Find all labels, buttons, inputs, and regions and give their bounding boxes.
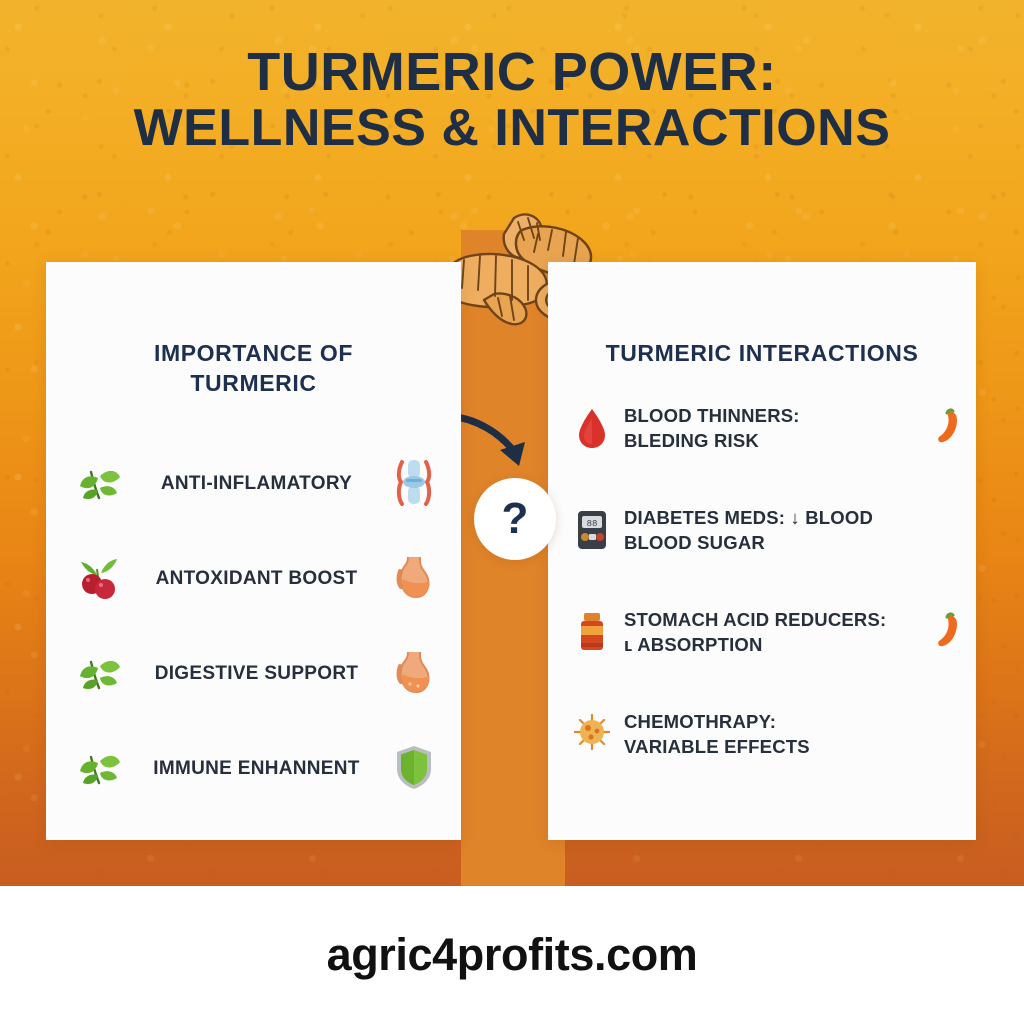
website-url[interactable]: agric4profits.com xyxy=(327,929,698,981)
herb-leaves-icon xyxy=(70,743,128,796)
question-mark-icon: ? xyxy=(502,497,529,541)
list-item[interactable]: 88 DIABETES MEDS: ↓ BLOOD BLOOD SUGAR xyxy=(548,500,976,602)
right-panel: TURMERIC INTERACTIONS BLOOD THINNERS: BL… xyxy=(548,262,976,840)
herb-leaves-icon xyxy=(70,458,128,511)
list-item-line-1: CHEMOTHRAPY: xyxy=(624,711,776,732)
svg-text:88: 88 xyxy=(587,519,598,529)
stomach-icon xyxy=(385,553,443,606)
list-item[interactable]: STOMACH ACID REDUCERS: ʟ ABSORPTION xyxy=(548,602,976,704)
trailing-icon-empty xyxy=(932,710,966,712)
list-item-line-1: STOMACH ACID REDUCERS: xyxy=(624,609,886,630)
infographic-canvas: TURMERIC POWER: WELLNESS & INTERACTIONS xyxy=(0,0,1024,1024)
benefits-list: ANTI-INFLAMATORY xyxy=(46,437,461,817)
left-panel-heading: IMPORTANCE OF TURMERIC xyxy=(92,338,415,399)
list-item-label: IMMUNE ENHANNENT xyxy=(128,758,385,780)
list-item[interactable]: ANTI-INFLAMATORY xyxy=(46,437,461,532)
title-line-2: WELLNESS & INTERACTIONS xyxy=(0,101,1024,156)
title-line-1: TURMERIC POWER: xyxy=(0,44,1024,101)
shield-icon xyxy=(385,743,443,796)
list-item[interactable]: IMMUNE ENHANNENT xyxy=(46,722,461,817)
list-item-text: DIABETES MEDS: ↓ BLOOD BLOOD SUGAR xyxy=(618,506,932,556)
question-mark-badge[interactable]: ? xyxy=(474,478,556,560)
trailing-icon-empty xyxy=(932,506,966,508)
list-item-text: STOMACH ACID REDUCERS: ʟ ABSORPTION xyxy=(618,608,932,658)
stomach-icon xyxy=(385,648,443,701)
berries-icon xyxy=(70,553,128,606)
list-item-text: CHEMOTHRAPY: VARIABLE EFFECTS xyxy=(618,710,932,760)
list-item[interactable]: CHEMOTHRAPY: VARIABLE EFFECTS xyxy=(548,704,976,806)
list-item-line-2: ʟ ABSORPTION xyxy=(624,634,763,655)
herb-leaves-icon xyxy=(70,648,128,701)
list-item-line-1: DIABETES MEDS: ↓ BLOOD xyxy=(624,507,873,528)
knee-joint-icon xyxy=(385,458,443,511)
list-item-label: ANTOXIDANT BOOST xyxy=(128,568,385,590)
right-panel-heading: TURMERIC INTERACTIONS xyxy=(568,338,956,368)
list-item[interactable]: DIGESTIVE SUPPORT xyxy=(46,627,461,722)
list-item-text: BLOOD THINNERS: BLEDING RISK xyxy=(618,404,932,454)
list-item-line-2: VARIABLE EFFECTS xyxy=(624,736,810,757)
list-item-label: DIGESTIVE SUPPORT xyxy=(128,663,385,685)
list-item-line-1: BLOOD THINNERS: xyxy=(624,405,800,426)
chili-pepper-icon xyxy=(932,608,966,655)
left-panel: IMPORTANCE OF TURMERIC ANTI-INFLAMATORY xyxy=(46,262,461,840)
interactions-list: BLOOD THINNERS: BLEDING RISK 88 xyxy=(548,398,976,806)
list-item-line-2: BLEDING RISK xyxy=(624,430,759,451)
glucose-meter-icon: 88 xyxy=(566,506,618,557)
list-item-line-2: BLOOD SUGAR xyxy=(624,532,765,553)
virus-cell-icon xyxy=(566,710,618,757)
footer: agric4profits.com xyxy=(0,886,1024,1024)
pill-bottle-icon xyxy=(566,608,618,659)
blood-drop-icon xyxy=(566,404,618,455)
chili-pepper-icon xyxy=(932,404,966,451)
list-item[interactable]: ANTOXIDANT BOOST xyxy=(46,532,461,627)
list-item-label: ANTI-INFLAMATORY xyxy=(128,473,385,495)
page-title: TURMERIC POWER: WELLNESS & INTERACTIONS xyxy=(0,44,1024,156)
list-item[interactable]: BLOOD THINNERS: BLEDING RISK xyxy=(548,398,976,500)
